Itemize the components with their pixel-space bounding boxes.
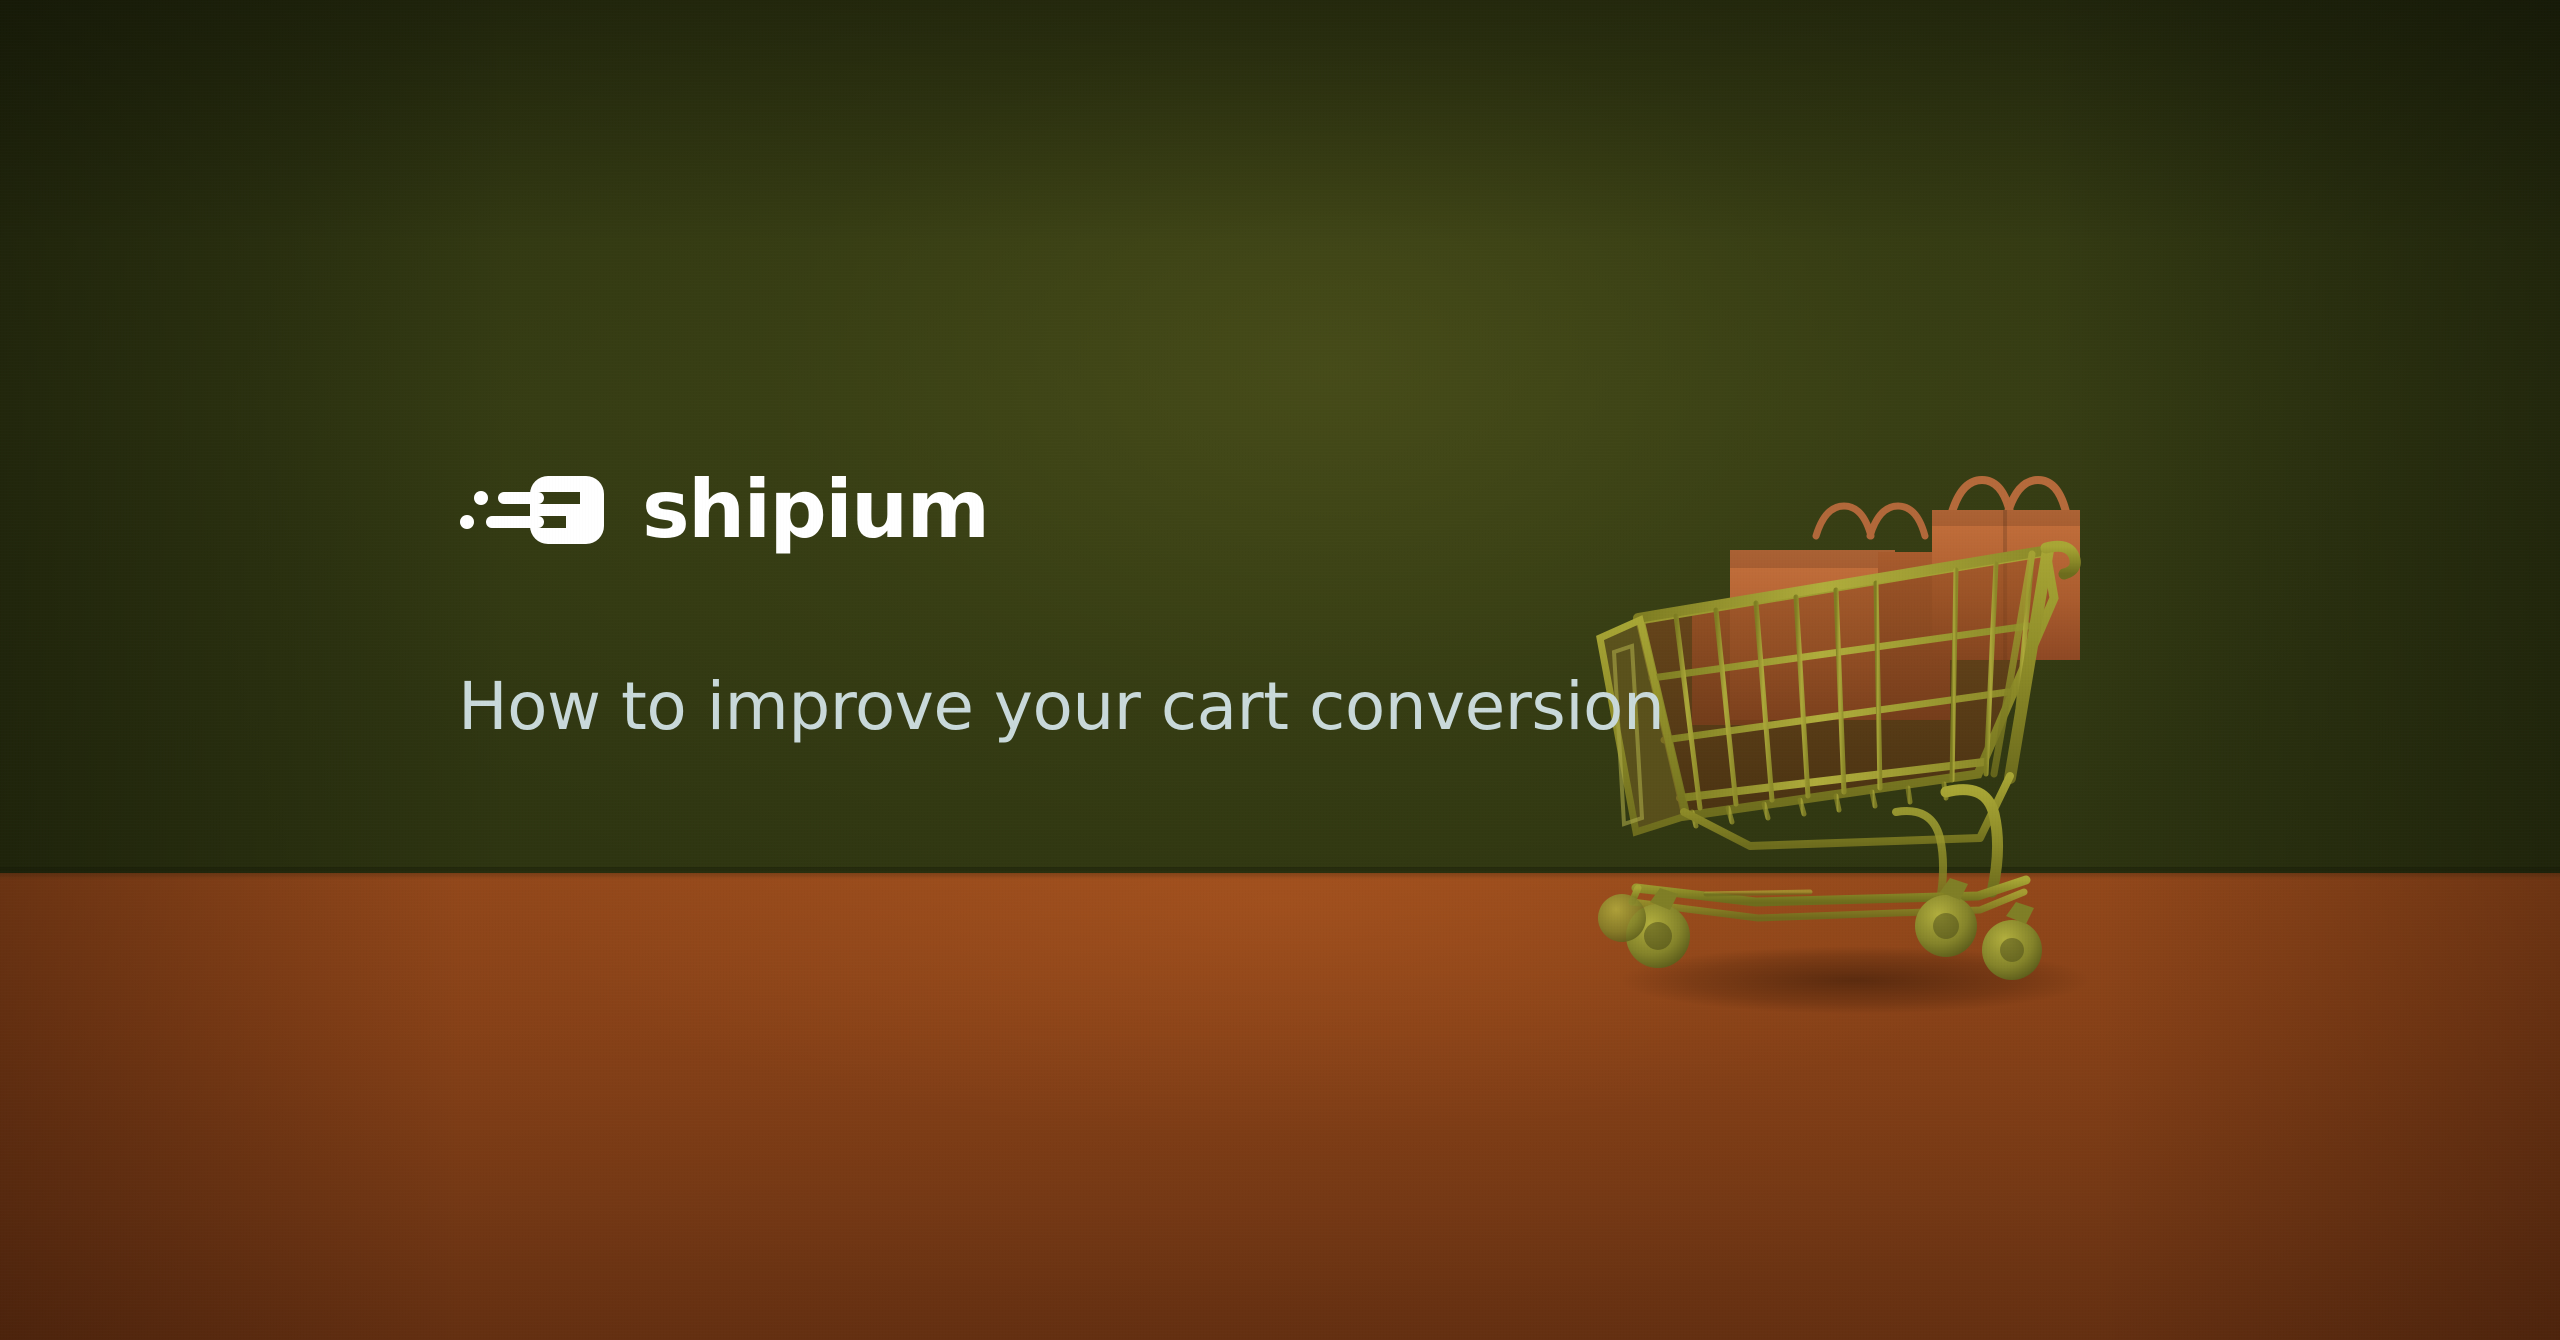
background-horizon-line — [0, 867, 2560, 879]
slide-content: shipium How to improve your cart convers… — [458, 460, 1758, 744]
shipium-logo-mark-icon — [458, 464, 606, 556]
background-floor-vignette — [0, 873, 2560, 1340]
page-title: How to improve your cart conversion — [458, 670, 1758, 744]
brand-lockup: shipium — [458, 460, 1758, 560]
brand-wordmark: shipium — [642, 470, 989, 550]
title-slide: shipium How to improve your cart convers… — [0, 0, 2560, 1340]
